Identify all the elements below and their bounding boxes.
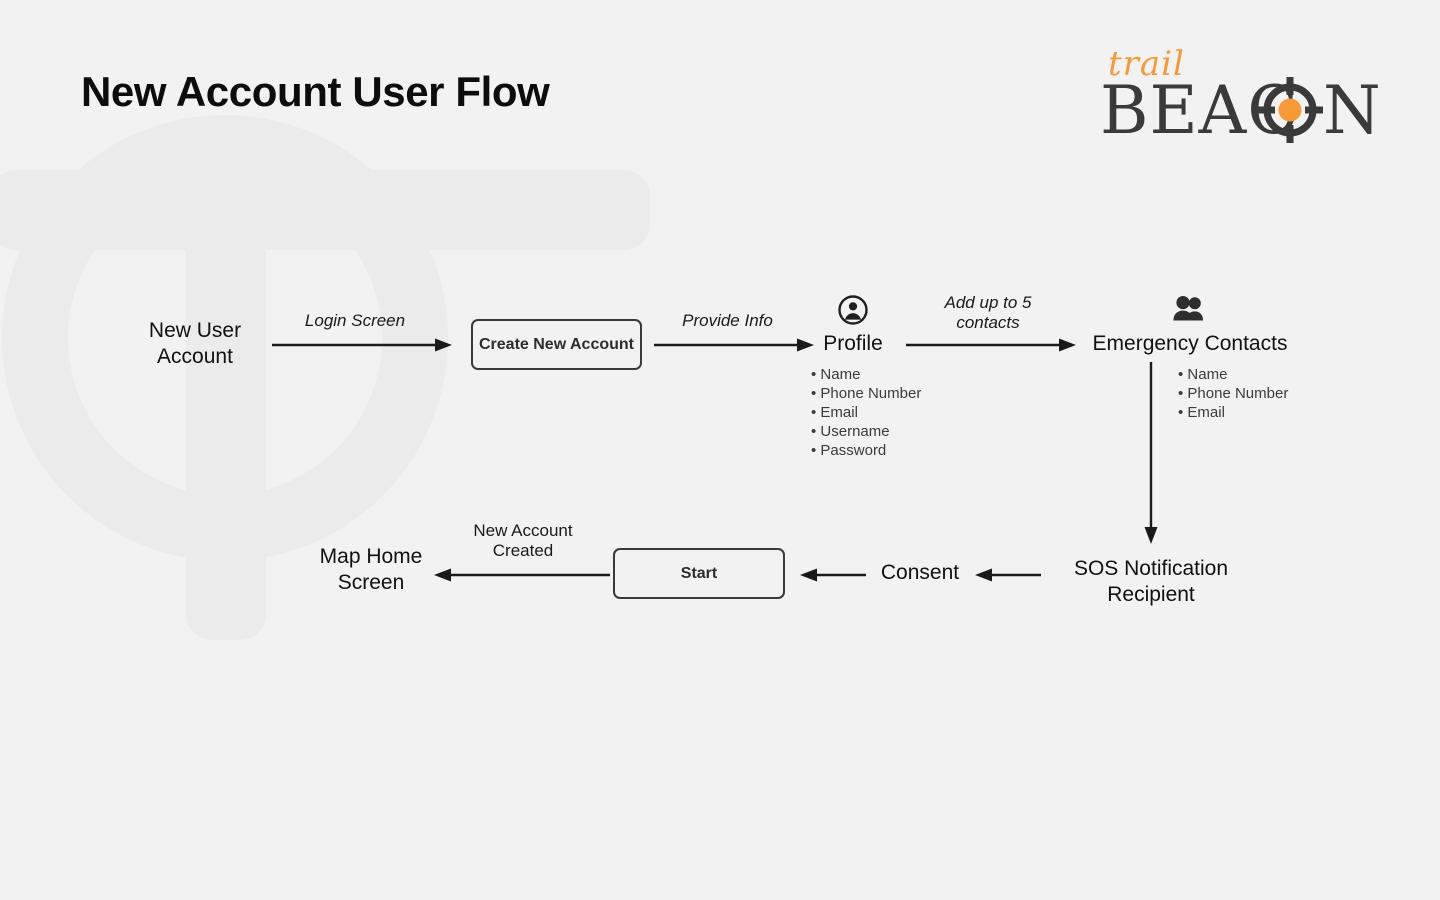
edge-label-new-account-created: New Account Created: [443, 521, 603, 562]
arrow-profile-to-emergency-contacts: [906, 335, 1076, 355]
profile-fields-list: • Name • Phone Number • Email • Username…: [811, 365, 1011, 460]
arrow-consent-to-start: [800, 565, 866, 585]
node-map-home-screen: Map Home Screen: [295, 544, 447, 597]
node-sos-notification-recipient: SOS Notification Recipient: [1035, 556, 1267, 609]
emergency-contact-fields-list: • Name • Phone Number • Email: [1178, 365, 1378, 422]
edge-label-login-screen: Login Screen: [275, 311, 435, 331]
edge-label-consent: Consent: [872, 560, 968, 585]
edge-label-provide-info: Provide Info: [650, 311, 805, 331]
brand-logo: trail BEAC N: [1100, 44, 1380, 148]
page-title: New Account User Flow: [81, 68, 549, 116]
node-emergency-contacts: Emergency Contacts: [1060, 331, 1320, 357]
arrow-sos-to-consent: [975, 565, 1041, 585]
group-people-icon: [1172, 296, 1208, 322]
flow-diagram-canvas: New Account User Flow trail BEAC N New U…: [0, 0, 1440, 900]
arrow-start-to-map-home: [434, 565, 610, 585]
user-circle-icon: [837, 294, 869, 326]
screen-box-start[interactable]: Start: [613, 548, 785, 599]
arrow-emergency-contacts-to-sos: [1141, 362, 1161, 544]
logo-wordmark: BEAC N: [1100, 76, 1380, 148]
svg-text:N: N: [1323, 76, 1380, 148]
arrow-new-user-to-create-account: [272, 335, 452, 355]
edge-label-add-contacts: Add up to 5 contacts: [908, 293, 1068, 334]
node-new-user-account: New User Account: [120, 318, 270, 371]
screen-box-create-new-account[interactable]: Create New Account: [471, 319, 642, 370]
